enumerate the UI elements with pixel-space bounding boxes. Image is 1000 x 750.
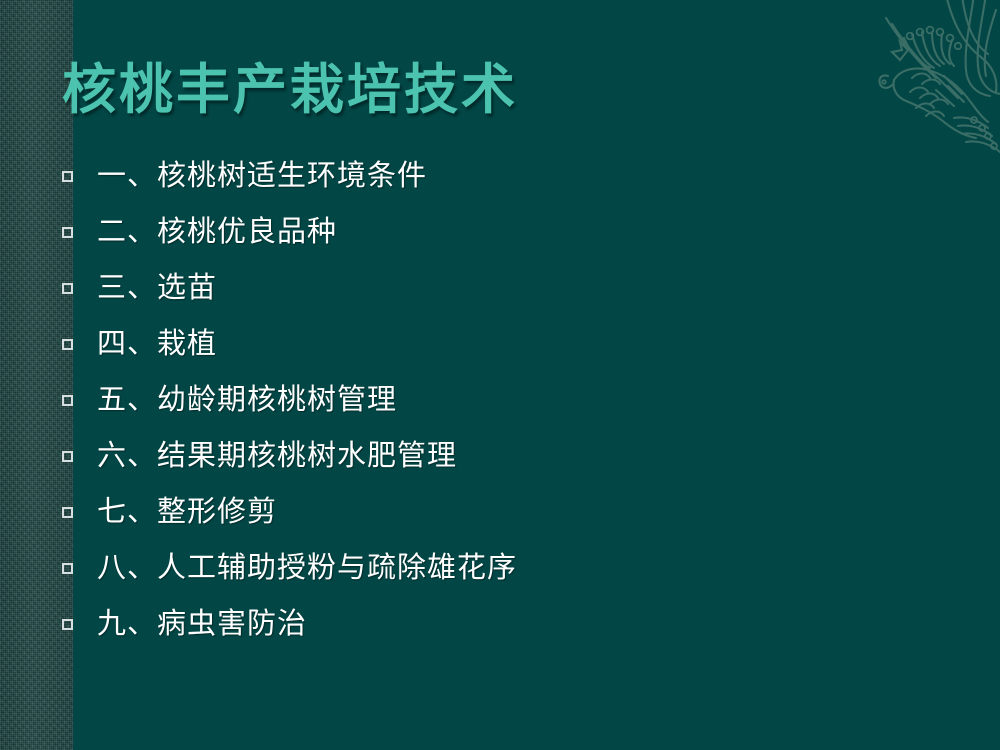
list-item-label: 八、人工辅助授粉与疏除雄花序 [97,551,1000,585]
hollow-square-bullet-icon [62,507,73,518]
list-item[interactable]: 七、整形修剪 [0,484,1000,540]
hollow-square-bullet-icon [62,283,73,294]
hollow-square-bullet-icon [62,451,73,462]
hollow-square-bullet-icon [62,171,73,182]
list-item-label: 五、幼龄期核桃树管理 [97,383,1000,417]
hollow-square-bullet-icon [62,563,73,574]
list-item-label: 九、病虫害防治 [97,607,1000,641]
list-item[interactable]: 四、栽植 [0,316,1000,372]
list-item[interactable]: 九、病虫害防治 [0,596,1000,652]
list-item[interactable]: 一、核桃树适生环境条件 [0,148,1000,204]
list-item-label: 一、核桃树适生环境条件 [97,159,1000,193]
list-item-label: 二、核桃优良品种 [97,215,1000,249]
hollow-square-bullet-icon [62,339,73,350]
list-item[interactable]: 五、幼龄期核桃树管理 [0,372,1000,428]
page-title: 核桃丰产栽培技术 [62,58,518,122]
outline-list: 一、核桃树适生环境条件 二、核桃优良品种 三、选苗 四、栽植 五、幼龄期核桃树管… [0,148,1000,652]
list-item-label: 七、整形修剪 [97,495,1000,529]
list-item[interactable]: 二、核桃优良品种 [0,204,1000,260]
hollow-square-bullet-icon [62,395,73,406]
list-item-label: 三、选苗 [97,271,1000,305]
list-item-label: 六、结果期核桃树水肥管理 [97,439,1000,473]
list-item-label: 四、栽植 [97,327,1000,361]
list-item[interactable]: 八、人工辅助授粉与疏除雄花序 [0,540,1000,596]
list-item[interactable]: 三、选苗 [0,260,1000,316]
list-item[interactable]: 六、结果期核桃树水肥管理 [0,428,1000,484]
hollow-square-bullet-icon [62,619,73,630]
presentation-slide: 核桃丰产栽培技术 一、核桃树适生环境条件 二、核桃优良品种 三、选苗 四、栽植 … [0,0,1000,750]
hollow-square-bullet-icon [62,227,73,238]
